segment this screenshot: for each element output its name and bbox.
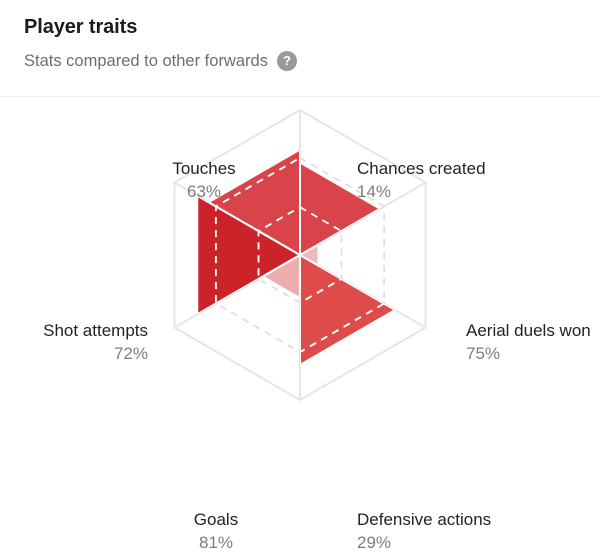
axis-label-touches-value: 63% xyxy=(118,180,290,203)
axis-label-defensive-actions: Defensive actions 29% xyxy=(357,508,587,554)
axis-label-defensive-actions-value: 29% xyxy=(357,531,587,554)
axis-label-touches: Touches 63% xyxy=(118,157,290,203)
axis-label-goals: Goals 81% xyxy=(130,508,302,554)
axis-label-touches-name: Touches xyxy=(172,159,235,178)
axis-label-goals-name: Goals xyxy=(194,510,238,529)
axis-label-chances-created-name: Chances created xyxy=(357,159,486,178)
card-subtitle: Stats compared to other forwards xyxy=(24,50,268,72)
axis-label-defensive-actions-name: Defensive actions xyxy=(357,510,491,529)
radar-chart: Touches 63% Chances created 14% Shot att… xyxy=(0,97,600,559)
axis-label-chances-created: Chances created 14% xyxy=(357,157,577,203)
page-title: Player traits xyxy=(24,14,576,40)
card-header: Player traits Stats compared to other fo… xyxy=(0,0,600,97)
axis-label-aerial-duels-won-name: Aerial duels won xyxy=(466,321,591,340)
subtitle-row: Stats compared to other forwards ? xyxy=(24,50,576,72)
axis-label-shot-attempts-value: 72% xyxy=(8,342,148,365)
axis-label-aerial-duels-won-value: 75% xyxy=(466,342,596,365)
axis-label-goals-value: 81% xyxy=(130,531,302,554)
player-traits-card: Player traits Stats compared to other fo… xyxy=(0,0,600,559)
axis-label-aerial-duels-won: Aerial duels won 75% xyxy=(466,319,596,365)
question-mark-icon[interactable]: ? xyxy=(277,51,297,71)
axis-label-shot-attempts: Shot attempts 72% xyxy=(8,319,148,365)
axis-label-chances-created-value: 14% xyxy=(357,180,577,203)
axis-label-shot-attempts-name: Shot attempts xyxy=(43,321,148,340)
